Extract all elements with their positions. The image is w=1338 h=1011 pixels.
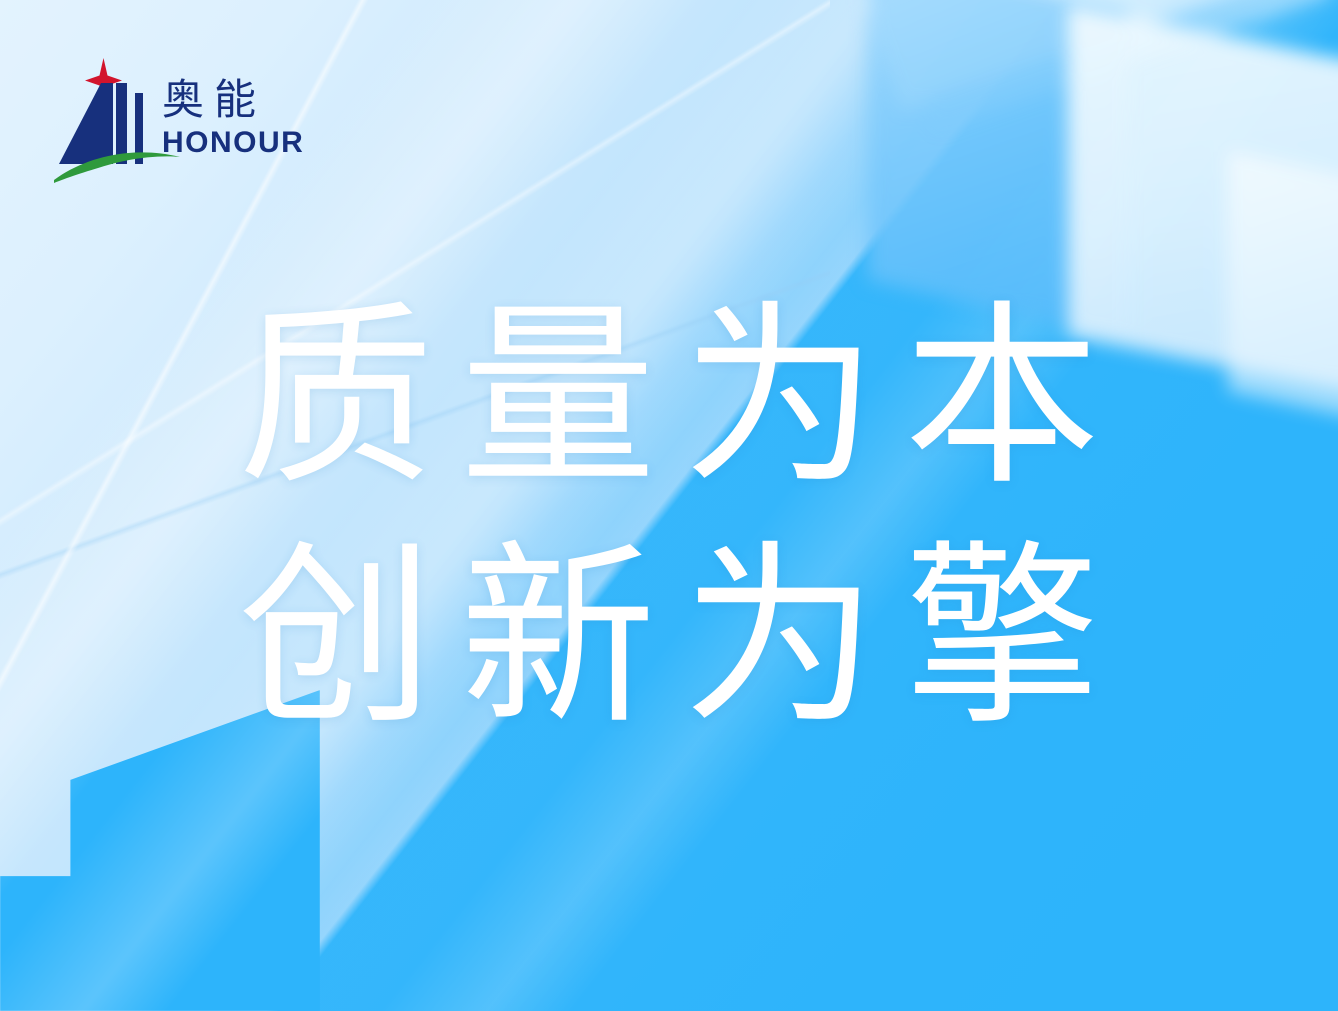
panel-top-beam xyxy=(863,0,1338,111)
brand-logo: 奥能 HONOUR xyxy=(54,52,314,202)
logo-mark-a-stroke xyxy=(59,83,113,164)
headline-block: 质量为本 创新为擎 xyxy=(0,300,1338,736)
brand-name-en: HONOUR xyxy=(162,126,304,159)
panel-ledge xyxy=(924,0,1332,131)
poster-canvas: 奥能 HONOUR 质量为本 创新为擎 xyxy=(0,0,1338,1011)
headline-line-2: 创新为擎 xyxy=(0,540,1338,736)
headline-line-1: 质量为本 xyxy=(0,300,1338,496)
logo-mark-bar xyxy=(116,83,127,164)
brand-name-cn: 奥能 xyxy=(162,76,266,123)
